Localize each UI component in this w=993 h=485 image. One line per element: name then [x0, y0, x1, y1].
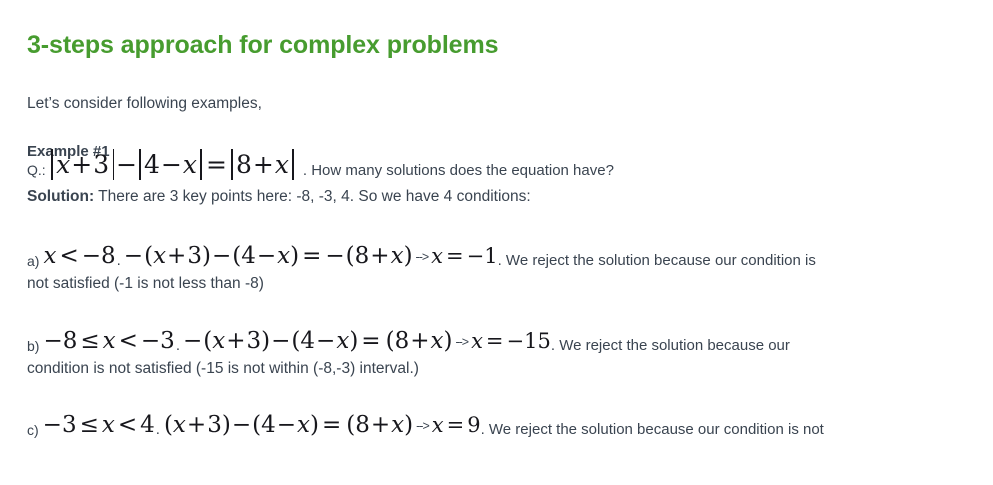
eq-c-g3-b: x — [391, 412, 404, 438]
eq-a-g3-b: x — [391, 243, 404, 269]
condition-a-continuation: not satisfied (-1 is not less than -8) — [27, 275, 987, 293]
equation-equals: = — [203, 150, 230, 179]
condition-c-separator: . — [155, 421, 162, 438]
condition-b-range: −8≤x<−3 — [43, 328, 174, 354]
eq-c-rhs-minus — [344, 412, 346, 438]
range-a-var: x — [43, 243, 56, 269]
solution-line: Solution: There are 3 key points here: -… — [27, 188, 531, 206]
eq-b-g2-a: 4 — [300, 328, 315, 354]
eq-b-g2-op: − — [315, 328, 336, 354]
eq-a-lead-minus: − — [123, 243, 144, 269]
condition-b-equation: −(x+3)−(4−x)=(8+x) — [182, 328, 452, 354]
result-c-var: x — [432, 413, 444, 437]
range-a-bound: −8 — [82, 243, 116, 269]
eq-a-g2-a: 4 — [241, 243, 256, 269]
condition-block-c: c)−3≤x<4.(x+3)−(4−x)=(8+x)-->x=9. We rej… — [27, 414, 987, 444]
intro-paragraph: Let’s consider following examples, — [27, 95, 262, 113]
range-b-lower: −8 — [43, 328, 77, 354]
eq-b-mid-op: − — [270, 328, 291, 354]
condition-c-main: c)−3≤x<4.(x+3)−(4−x)=(8+x)-->x=9. We rej… — [27, 414, 987, 437]
condition-c-tail: . We reject the solution because our con… — [481, 421, 824, 438]
abs2-term-b: x — [183, 150, 197, 179]
page-title: 3-steps approach for complex problems — [27, 31, 498, 60]
result-b-var: x — [471, 329, 483, 353]
abs3-term-a: 8 — [236, 150, 252, 179]
eq-c-g3-a: 8 — [355, 412, 370, 438]
abs-group-1: x+3 — [50, 152, 115, 177]
eq-a-rhs-minus: − — [324, 243, 345, 269]
eq-c-g2-b: x — [297, 412, 310, 438]
eq-b-rhs-minus — [384, 328, 386, 354]
eq-a-g1-a: x — [153, 243, 166, 269]
condition-a-separator: . — [116, 252, 123, 269]
eq-c-g1-op: + — [186, 412, 207, 438]
condition-block-b: b)−8≤x<−3.−(x+3)−(4−x)=(8+x)-->x=−15. We… — [27, 330, 987, 378]
abs3-operator: + — [252, 150, 275, 179]
range-c-lower: −3 — [43, 412, 77, 438]
eq-a-g3-a: 8 — [355, 243, 370, 269]
eq-b-g3-op: + — [409, 328, 430, 354]
eq-a-g2-op: − — [256, 243, 277, 269]
range-c-relation-2: < — [115, 412, 140, 438]
eq-c-equals: = — [319, 412, 344, 438]
condition-c-equation: (x+3)−(4−x)=(8+x) — [162, 412, 413, 438]
eq-c-g1-a: x — [173, 412, 186, 438]
range-b-relation-1: ≤ — [77, 328, 102, 354]
eq-b-g1-b: 3 — [247, 328, 262, 354]
eq-c-g3-op: + — [370, 412, 391, 438]
condition-b-main: b)−8≤x<−3.−(x+3)−(4−x)=(8+x)-->x=−15. We… — [27, 330, 987, 353]
condition-c-result: x=9 — [432, 413, 481, 437]
condition-b-continuation: condition is not satisfied (-15 is not w… — [27, 360, 987, 378]
condition-b-tail: . We reject the solution because our — [551, 337, 790, 354]
condition-a-result: x=−1 — [431, 244, 497, 268]
eq-b-equals: = — [358, 328, 383, 354]
condition-c-label: c) — [27, 422, 43, 438]
equation-minus: − — [115, 150, 138, 179]
result-b-value: −15 — [507, 329, 551, 353]
question-line: Q.: x+3−4−x=8+x . How many solutions doe… — [27, 152, 614, 178]
abs-group-2: 4−x — [138, 152, 203, 177]
eq-c-lead-minus — [162, 412, 164, 438]
range-b-upper: −3 — [141, 328, 175, 354]
solution-text: There are 3 key points here: -8, -3, 4. … — [94, 188, 531, 205]
arrow-c-icon: --> — [413, 419, 432, 433]
solution-label: Solution: — [27, 188, 94, 205]
range-c-relation-1: ≤ — [77, 412, 102, 438]
range-c-upper: 4 — [140, 412, 155, 438]
condition-block-a: a)x<−8.−(x+3)−(4−x)=−(8+x)-->x=−1. We re… — [27, 245, 987, 293]
result-b-equals: = — [483, 329, 507, 353]
abs3-term-b: x — [275, 150, 289, 179]
eq-c-g1-b: 3 — [207, 412, 222, 438]
range-a-relation: < — [56, 243, 81, 269]
eq-b-g3-a: 8 — [395, 328, 410, 354]
abs1-term-a: x — [56, 150, 70, 179]
eq-a-g1-op: + — [166, 243, 187, 269]
eq-c-mid-op: − — [231, 412, 252, 438]
condition-c-range: −3≤x<4 — [43, 412, 155, 438]
arrow-b-icon: --> — [452, 335, 471, 349]
range-b-relation-2: < — [116, 328, 141, 354]
eq-c-g2-a: 4 — [261, 412, 276, 438]
eq-b-lead-minus: − — [182, 328, 203, 354]
question-equation: x+3−4−x=8+x — [50, 150, 303, 179]
eq-b-g3-b: x — [430, 328, 443, 354]
condition-a-label: a) — [27, 253, 43, 269]
eq-b-g1-op: + — [225, 328, 246, 354]
condition-a-main: a)x<−8.−(x+3)−(4−x)=−(8+x)-->x=−1. We re… — [27, 245, 987, 268]
eq-a-g2-b: x — [277, 243, 290, 269]
abs1-operator: + — [70, 150, 93, 179]
question-tail: . How many solutions does the equation h… — [303, 162, 614, 179]
eq-b-g1-a: x — [212, 328, 225, 354]
eq-c-g2-op: − — [276, 412, 297, 438]
question-label: Q.: — [27, 162, 46, 178]
condition-a-range: x<−8 — [43, 243, 115, 269]
abs1-term-b: 3 — [93, 150, 109, 179]
eq-a-mid-op: − — [211, 243, 232, 269]
range-c-var: x — [102, 412, 115, 438]
result-c-equals: = — [444, 413, 468, 437]
result-a-equals: = — [443, 244, 467, 268]
result-a-var: x — [431, 244, 443, 268]
condition-b-result: x=−15 — [471, 329, 551, 353]
article-page: 3-steps approach for complex problems Le… — [0, 0, 993, 485]
condition-a-equation: −(x+3)−(4−x)=−(8+x) — [123, 243, 413, 269]
eq-a-g1-b: 3 — [187, 243, 202, 269]
abs2-operator: − — [160, 150, 183, 179]
arrow-a-icon: --> — [413, 250, 432, 264]
eq-b-g2-b: x — [336, 328, 349, 354]
range-b-var: x — [103, 328, 116, 354]
abs2-term-a: 4 — [144, 150, 160, 179]
eq-a-equals: = — [299, 243, 324, 269]
result-a-value: −1 — [467, 244, 498, 268]
condition-b-label: b) — [27, 338, 43, 354]
abs-group-3: 8+x — [230, 152, 295, 177]
condition-a-tail: . We reject the solution because our con… — [498, 252, 816, 269]
condition-b-separator: . — [175, 337, 182, 354]
eq-a-g3-op: + — [369, 243, 390, 269]
result-c-value: 9 — [467, 413, 480, 437]
